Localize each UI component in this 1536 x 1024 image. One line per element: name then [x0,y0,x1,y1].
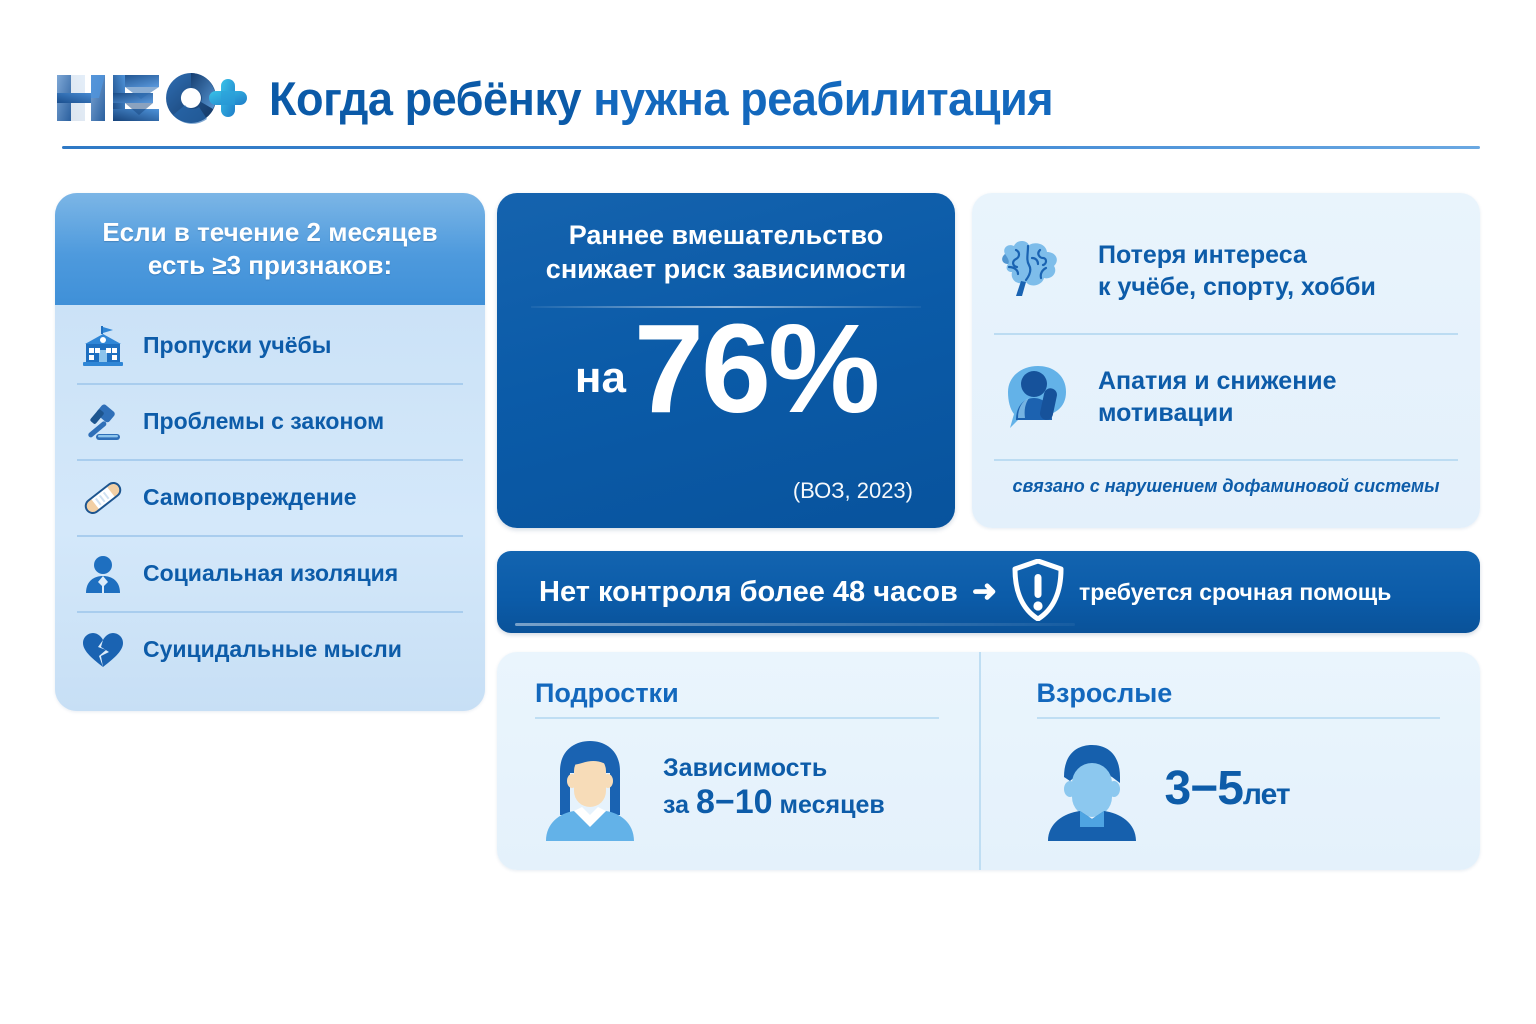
list-item[interactable]: Суицидальные мысли [77,613,463,687]
brain-icon [994,229,1080,313]
list-item[interactable]: Пропуски учёбы [77,309,463,385]
sign-label: Проблемы с законом [143,409,384,434]
sign-label: Пропуски учёбы [143,333,331,358]
signs-header-line1: Если в течение 2 месяцев [102,217,437,248]
adults-unit: лет [1243,778,1290,811]
school-icon [77,323,129,369]
stat-prefix: на [575,353,626,427]
compare-panel: Подростки Зависимость [497,652,1480,870]
compare-column-adults: Взрослые 3−5лет [979,652,1481,870]
symptom-line2: мотивации [1098,397,1337,430]
header-divider [62,146,1480,149]
teens-line1: Зависимость [663,754,885,783]
teen-girl-avatar [535,733,645,843]
stat-title: Раннее вмешательство снижает риск зависи… [497,219,955,287]
page-title-strong: Когда ребёнку [269,72,581,125]
stat-title-line2: снижает риск зависимости [497,253,955,287]
neo-plus-logo-icon [55,67,251,129]
symptom-line1: Потеря интереса [1098,239,1376,272]
compare-text-teens: Зависимость за 8−10 месяцев [663,754,885,822]
signs-panel-header: Если в течение 2 месяцев есть ≥3 признак… [55,193,485,305]
symptom-label: Апатия и снижение мотивации [1098,365,1337,430]
adults-value: 3−5 [1165,762,1243,815]
list-item[interactable]: Проблемы с законом [77,385,463,461]
shield-alert-icon [1011,559,1065,626]
stat-title-line1: Раннее вмешательство [497,219,955,253]
compare-body-teens: Зависимость за 8−10 месяцев [535,733,949,843]
teens-line2-suffix: месяцев [780,791,885,819]
list-item[interactable]: Самоповреждение [77,461,463,537]
signs-header-line2: есть ≥3 признаков: [148,250,392,281]
signs-list: Пропуски учёбы Проблемы с законом [55,305,485,711]
teens-line2-prefix: за [663,791,689,819]
compare-title-adults: Взрослые [1037,678,1451,709]
list-item[interactable]: Социальная изоляция [77,537,463,613]
teens-line2-value: 8−10 [696,783,773,821]
urgent-tail-text: требуется срочная помощь [1079,579,1391,606]
list-item[interactable]: Апатия и снижение мотивации [994,335,1458,461]
page-title: Когда ребёнку нужна реабилитация [269,75,1053,122]
signs-panel: Если в течение 2 месяцев есть ≥3 признак… [55,193,485,711]
symptom-line2: к учёбе, спорту, хобби [1098,271,1376,304]
arrow-right-icon: ➜ [972,577,997,607]
compare-column-teens: Подростки Зависимость [497,652,979,870]
bandage-icon [77,475,129,521]
urgent-banner: Нет контроля более 48 часов ➜ требуется … [497,551,1480,633]
compare-divider [535,717,939,719]
stat-source: (ВОЗ, 2023) [793,478,913,504]
list-item[interactable]: Потеря интереса к учёбе, спорту, хобби [994,209,1458,335]
person-icon [77,551,129,597]
symptoms-panel: Потеря интереса к учёбе, спорту, хобби А… [972,193,1480,528]
page-title-light: нужна реабилитация [593,72,1053,125]
symptoms-note: связано с нарушением дофаминовой системы [994,461,1458,511]
symptom-line1: Апатия и снижение [1098,365,1337,398]
compare-body-adults: 3−5лет [1037,733,1451,843]
stat-panel: Раннее вмешательство снижает риск зависи… [497,193,955,528]
sad-person-icon [994,355,1080,439]
sign-label: Социальная изоляция [143,561,398,586]
adult-man-avatar [1037,733,1147,843]
sign-label: Самоповреждение [143,485,357,510]
gavel-icon [77,399,129,445]
compare-divider [1037,717,1441,719]
stat-value: 76% [634,311,877,427]
compare-title-teens: Подростки [535,678,949,709]
adults-duration: 3−5лет [1165,761,1290,816]
stat-value-row: на 76% [497,311,955,427]
teens-line2: за 8−10 месяцев [663,783,885,822]
neo-plus-logo [55,67,251,129]
broken-heart-icon [77,627,129,673]
sign-label: Суицидальные мысли [143,637,402,662]
urgent-main-text: Нет контроля более 48 часов [539,576,958,609]
infographic-canvas: Когда ребёнку нужна реабилитация Если в … [0,0,1536,1024]
symptom-label: Потеря интереса к учёбе, спорту, хобби [1098,239,1376,304]
page-header: Когда ребёнку нужна реабилитация [55,48,1480,148]
